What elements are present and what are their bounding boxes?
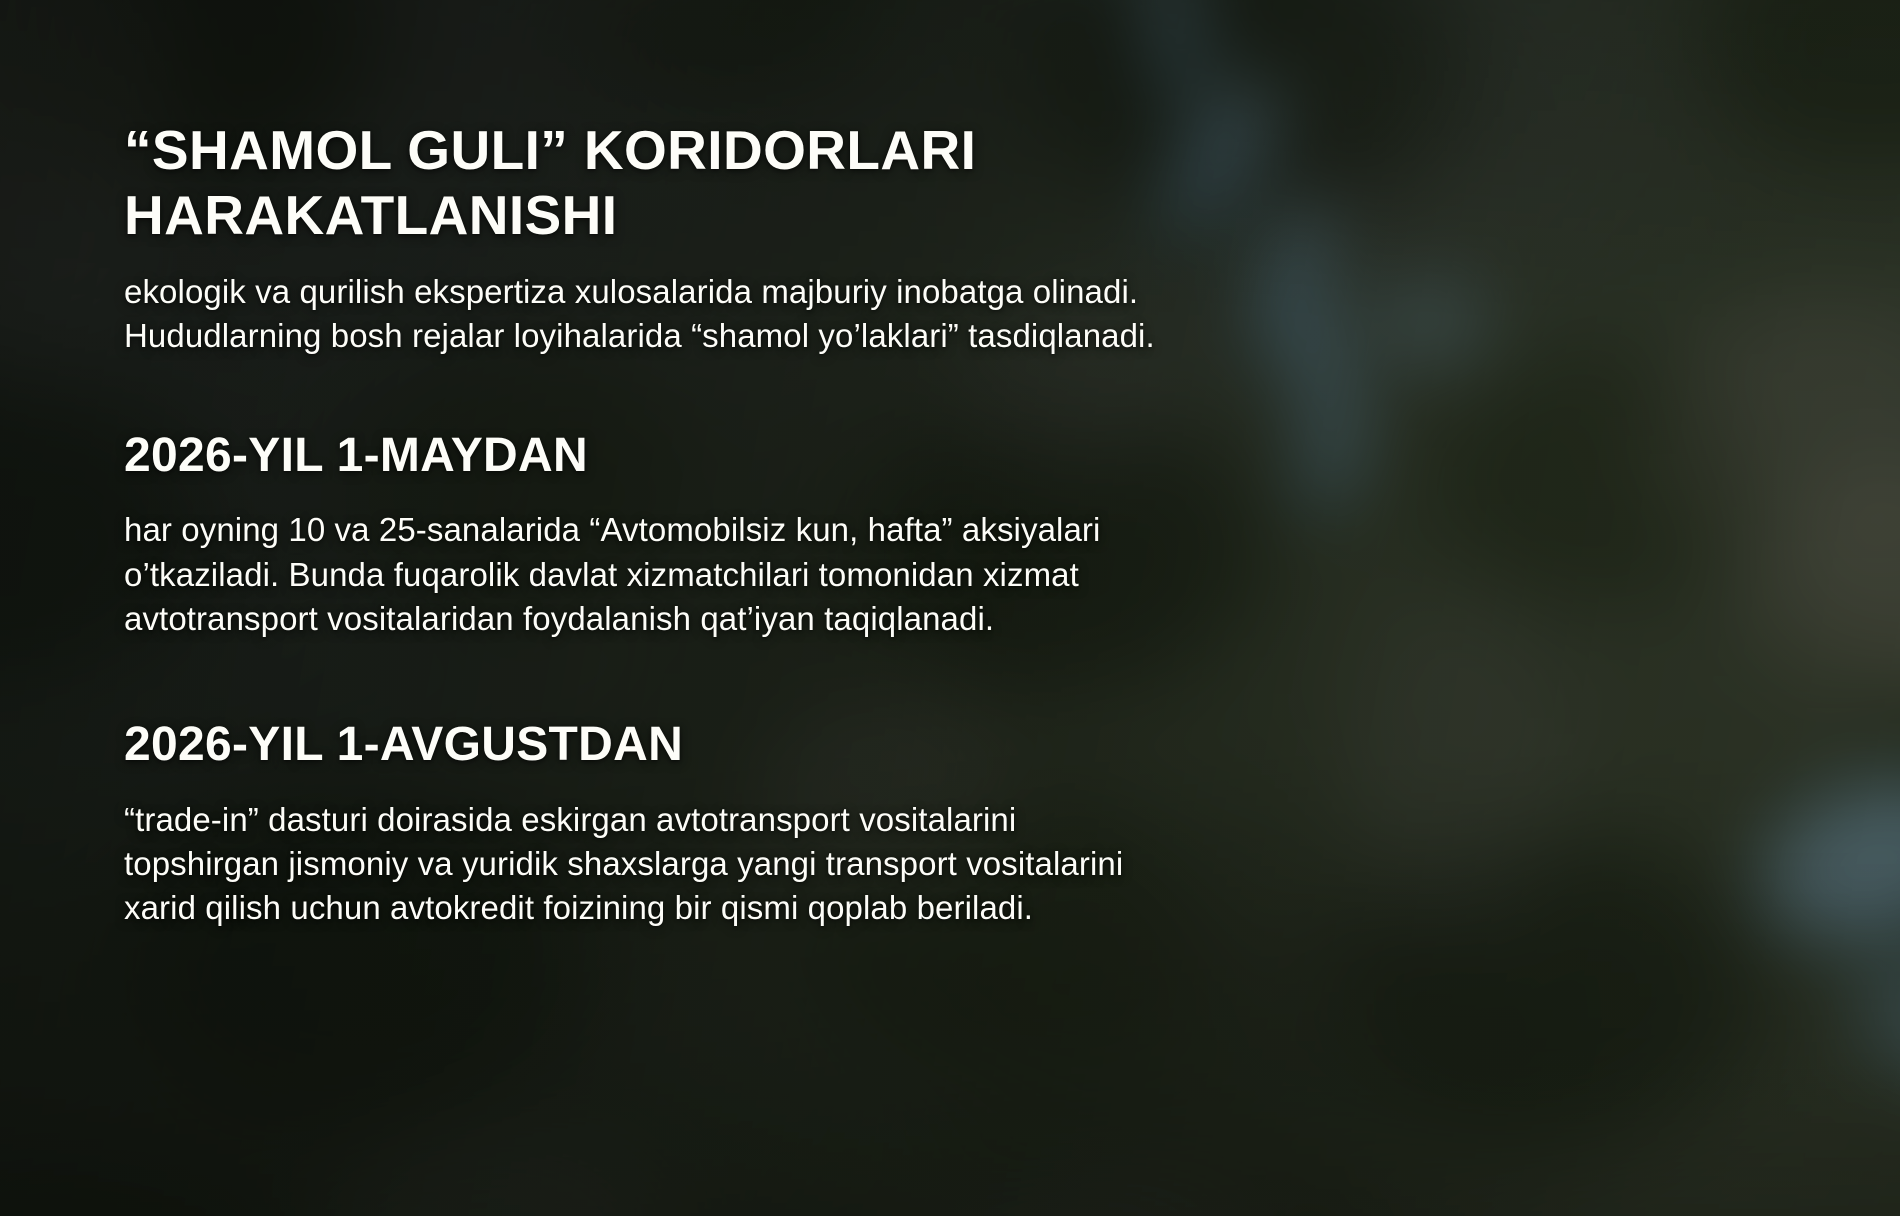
section-body-august: “trade-in” dasturi doirasida eskirgan av…: [124, 798, 1624, 931]
slide-title: “SHAMOL GULI” KORIDORLARI HARAKATLANISHI: [124, 118, 1304, 248]
section-2026-may: 2026-YIL 1-MAYDAN har oyning 10 va 25-sa…: [124, 430, 1684, 641]
section-heading-may: 2026-YIL 1-MAYDAN: [124, 430, 1684, 483]
slide-content: “SHAMOL GULI” KORIDORLARI HARAKATLANISHI…: [124, 118, 1684, 930]
section-body-may: har oyning 10 va 25-sanalarida “Avtomobi…: [124, 508, 1624, 641]
slide-root: “SHAMOL GULI” KORIDORLARI HARAKATLANISHI…: [0, 0, 1900, 1216]
section-heading-august: 2026-YIL 1-AVGUSTDAN: [124, 719, 1684, 772]
slide-lede-paragraph: ekologik va qurilish ekspertiza xulosala…: [124, 270, 1684, 358]
section-2026-august: 2026-YIL 1-AVGUSTDAN “trade-in” dasturi …: [124, 719, 1684, 930]
